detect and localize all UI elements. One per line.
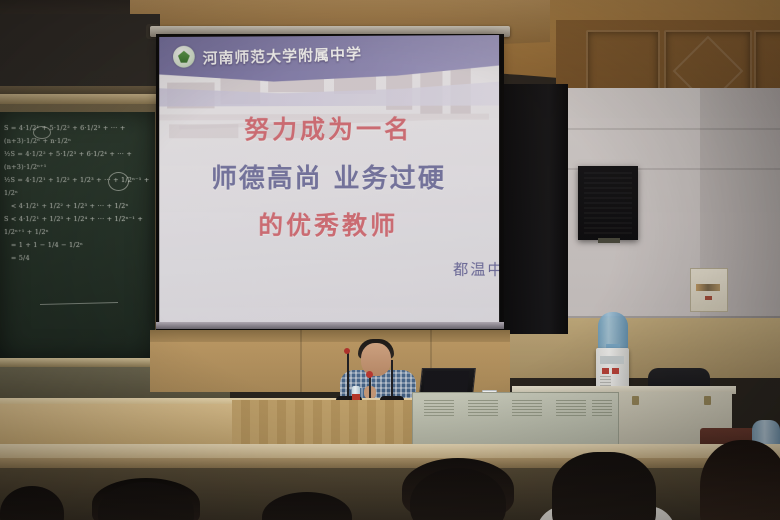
wall-seam: [300, 330, 302, 392]
gooseneck-mic-rod: [347, 352, 349, 398]
audience-head: [552, 452, 656, 520]
audience-head: [700, 440, 780, 520]
wall-rail: [0, 94, 170, 104]
slide-title-line-3: 的优秀教师: [159, 206, 499, 243]
cabinet-vent: [592, 400, 612, 416]
speaker-grill: [584, 172, 632, 234]
slide-title-line-1: 努力成为一名: [159, 110, 499, 147]
front-row-desk-edge: [0, 458, 780, 468]
speaker-bracket: [598, 238, 620, 243]
cabinet-vent: [468, 400, 498, 416]
wall-panel-indicator-icon: [705, 296, 712, 300]
wall-panel-label: [696, 284, 720, 291]
front-row-desk-surface: [0, 444, 780, 458]
dispenser-cold-tap[interactable]: [612, 368, 619, 374]
projection-screen: 河南师范大学附属中学 努力成为一名 师德高尚 业务过硬 的优秀教师 都温中: [159, 35, 499, 326]
black-curtain-panel: [504, 84, 568, 334]
stage-wall-shadow: [150, 330, 510, 342]
slide-title-line-2: 师德高尚 业务过硬: [159, 158, 499, 195]
cabinet-vent: [556, 400, 586, 416]
lecture-hall-photo: S = 4·1/2¹ + 5·1/2² + 6·1/2³ + ··· + (n+…: [0, 0, 780, 520]
speaker-head: [361, 343, 391, 376]
cabinet-latch[interactable]: [632, 396, 639, 405]
cabinet-vent: [512, 400, 542, 416]
wooden-wall-panel: [232, 400, 412, 448]
left-lower-wall: [0, 404, 240, 448]
cabinet-vent: [424, 400, 454, 416]
chalk-circle-annotation: [33, 126, 51, 139]
handheld-microphone: [369, 376, 371, 398]
slide-presenter-name: 都温中: [159, 257, 499, 280]
screen-bottom-weight-bar: [156, 322, 506, 329]
chalk-tray: [0, 358, 162, 367]
microphone-indicator-icon: [366, 371, 373, 378]
dispenser-hot-tap[interactable]: [602, 368, 609, 374]
blackboard-math-writing: S = 4·1/2¹ + 5·1/2² + 6·1/2³ + ··· + (n+…: [4, 122, 154, 354]
gooseneck-mic-light-icon: [344, 348, 350, 354]
dispenser-panel: [600, 356, 624, 364]
gooseneck-mic-rod: [391, 360, 393, 398]
cabinet-latch[interactable]: [704, 396, 711, 405]
chalk-circle-annotation: [108, 172, 129, 191]
